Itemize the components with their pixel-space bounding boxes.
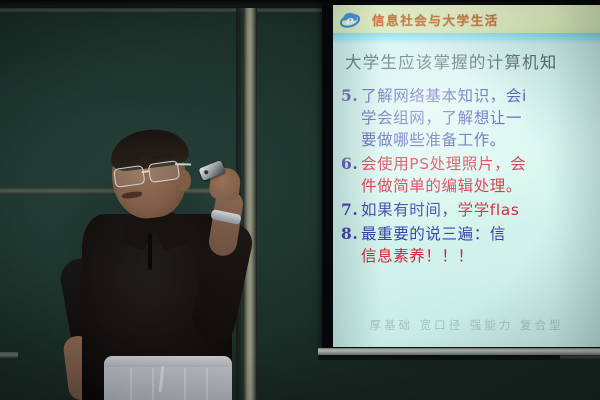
list-item-line: 要做哪些准备工作。: [333, 129, 600, 151]
list-item-number: 6.: [341, 153, 358, 175]
slide-title-accent-strip: [333, 33, 600, 45]
slide-footer: 厚基础 宽口径 强能力 复合型: [333, 317, 600, 333]
pant-fold: [130, 368, 132, 400]
list-item: 6. 会使用PS处理照片，会 件做简单的编辑处理。: [333, 153, 600, 197]
chalkboard-left-rail: [0, 352, 18, 358]
list-item-line: 会使用PS处理照片，会: [333, 153, 600, 175]
list-item-line-group: 如果有时间，学学flas: [333, 199, 600, 221]
lecture-photo-scene: e 信息社会与大学生活 大学生应该掌握的计算机知 5. 了解网络基本知识，会i …: [0, 0, 600, 400]
list-item-line: 了解网络基本知识，会i: [333, 85, 600, 107]
list-item-line-emphasis: 信息素养！！！: [333, 245, 600, 267]
screen-bottom-rail: [318, 348, 600, 355]
svg-text:e: e: [346, 13, 354, 28]
pant-fold: [206, 368, 208, 400]
projection-screen: e 信息社会与大学生活 大学生应该掌握的计算机知 5. 了解网络基本知识，会i …: [333, 5, 600, 347]
slide-bullet-list: 5. 了解网络基本知识，会i 学会组网，了解想让一 要做哪些准备工作。 6. 会…: [333, 85, 600, 269]
list-item: 5. 了解网络基本知识，会i 学会组网，了解想让一 要做哪些准备工作。: [333, 85, 600, 151]
internet-explorer-icon: e: [340, 9, 360, 29]
list-item-line: 最重要的说三遍：信: [333, 223, 600, 245]
presenter: [60, 130, 270, 400]
slide-title-bar: e 信息社会与大学生活: [333, 5, 600, 33]
list-item-line-emphasis: 学学flas: [458, 201, 520, 219]
presenter-shirt-placket: [148, 234, 152, 270]
list-item-number: 7.: [341, 199, 358, 221]
list-item: 8. 最重要的说三遍：信 信息素养！！！: [333, 223, 600, 267]
screen-rail-shadow: [318, 355, 600, 360]
list-item-number: 8.: [341, 223, 358, 245]
eyeglass-temple: [175, 163, 191, 165]
pant-fold: [152, 368, 154, 400]
list-item-line: 件做简单的编辑处理。: [333, 175, 600, 197]
list-item: 7. 如果有时间，学学flas: [333, 199, 600, 221]
slide-heading: 大学生应该掌握的计算机知: [345, 49, 600, 73]
list-item-number: 5.: [341, 85, 358, 107]
remote-button: [204, 170, 209, 175]
list-item-line: 学会组网，了解想让一: [333, 107, 600, 129]
chalkboard-top-rail: [0, 8, 335, 13]
slide-title: 信息社会与大学生活: [372, 10, 499, 29]
pant-fold: [184, 368, 186, 400]
presenter-waistband: [104, 356, 232, 367]
list-item-line: 如果有时间，: [361, 201, 458, 219]
